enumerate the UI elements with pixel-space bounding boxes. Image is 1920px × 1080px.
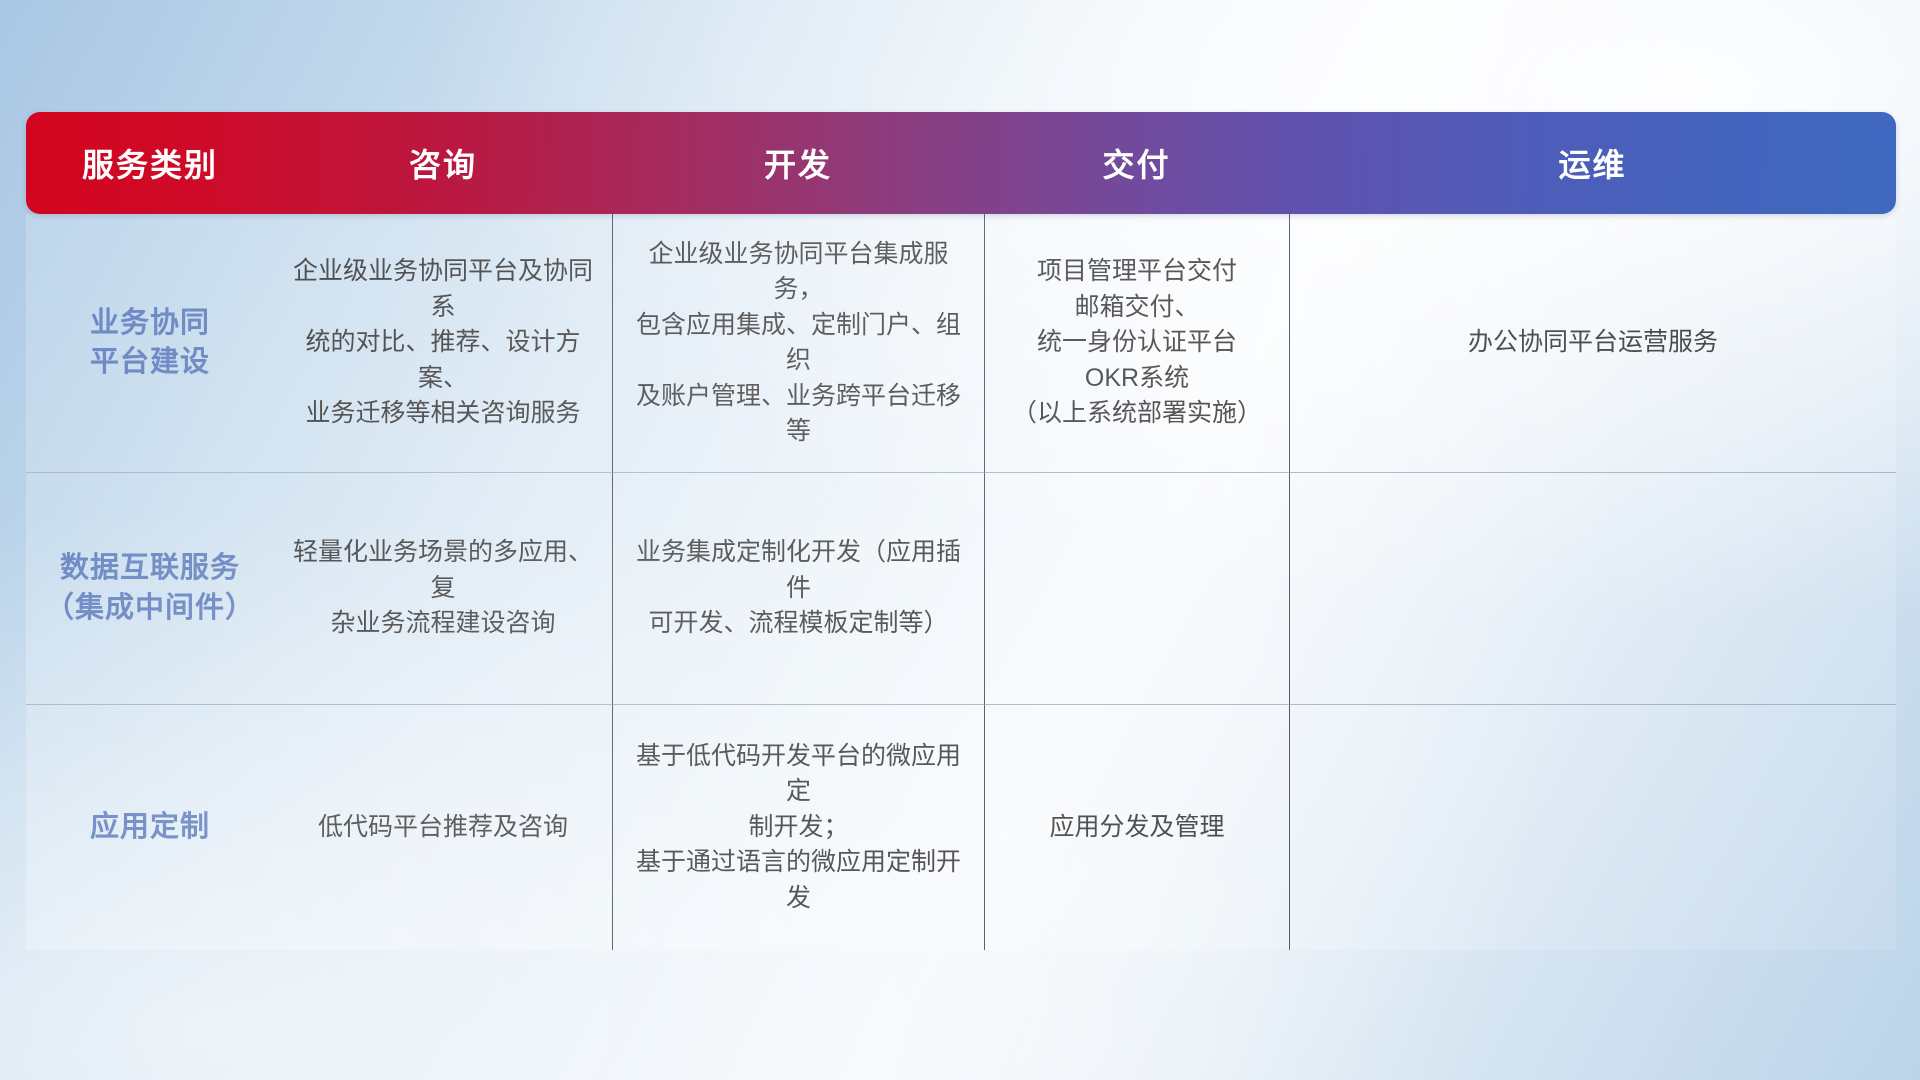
cell-category-row3: 应用定制 bbox=[26, 704, 274, 950]
cell-text: 低代码平台推荐及咨询 bbox=[288, 810, 598, 846]
cell-delivery-row1: 项目管理平台交付 邮箱交付、 统一身份认证平台 OKR系统 （以上系统部署实施） bbox=[984, 214, 1289, 472]
table-row: 应用定制 低代码平台推荐及咨询 基于低代码开发平台的微应用定 制开发； 基于通过… bbox=[26, 704, 1896, 950]
cell-category-row1: 业务协同 平台建设 bbox=[26, 214, 274, 472]
cell-consulting-row1: 企业级业务协同平台及协同系 统的对比、推荐、设计方案、 业务迁移等相关咨询服务 bbox=[274, 214, 612, 472]
table-header: 服务类别 咨询 开发 交付 运维 bbox=[26, 112, 1896, 214]
cell-text: 项目管理平台交付 邮箱交付、 统一身份认证平台 OKR系统 （以上系统部署实施） bbox=[999, 254, 1275, 432]
cell-consulting-row3: 低代码平台推荐及咨询 bbox=[274, 704, 612, 950]
header-cell-operations[interactable]: 运维 bbox=[1289, 112, 1896, 214]
cell-text: 办公协同平台运营服务 bbox=[1304, 325, 1882, 361]
service-category-table: 服务类别 咨询 开发 交付 运维 业务协同 平台建设 企业级业务协同平台及协同系… bbox=[26, 112, 1896, 950]
cell-text: 企业级业务协同平台集成服务， 包含应用集成、定制门户、组织 及账户管理、业务跨平… bbox=[627, 237, 970, 450]
header-row: 服务类别 咨询 开发 交付 运维 bbox=[26, 112, 1896, 214]
table-row: 数据互联服务 （集成中间件） 轻量化业务场景的多应用、复 杂业务流程建设咨询 业… bbox=[26, 472, 1896, 704]
table-row: 业务协同 平台建设 企业级业务协同平台及协同系 统的对比、推荐、设计方案、 业务… bbox=[26, 214, 1896, 472]
cell-development-row1: 企业级业务协同平台集成服务， 包含应用集成、定制门户、组织 及账户管理、业务跨平… bbox=[612, 214, 984, 472]
header-cell-category[interactable]: 服务类别 bbox=[26, 112, 274, 214]
header-cell-consulting[interactable]: 咨询 bbox=[274, 112, 612, 214]
cell-text: 企业级业务协同平台及协同系 统的对比、推荐、设计方案、 业务迁移等相关咨询服务 bbox=[288, 254, 598, 432]
category-label: 应用定制 bbox=[40, 808, 260, 847]
cell-delivery-row2 bbox=[984, 472, 1289, 704]
services-matrix-table: 服务类别 咨询 开发 交付 运维 业务协同 平台建设 企业级业务协同平台及协同系… bbox=[26, 112, 1896, 950]
header-cell-development[interactable]: 开发 bbox=[612, 112, 984, 214]
cell-text: 应用分发及管理 bbox=[999, 810, 1275, 846]
cell-category-row2: 数据互联服务 （集成中间件） bbox=[26, 472, 274, 704]
cell-text: 轻量化业务场景的多应用、复 杂业务流程建设咨询 bbox=[288, 535, 598, 642]
cell-development-row3: 基于低代码开发平台的微应用定 制开发； 基于通过语言的微应用定制开发 bbox=[612, 704, 984, 950]
cell-text: 基于低代码开发平台的微应用定 制开发； 基于通过语言的微应用定制开发 bbox=[627, 739, 970, 917]
cell-consulting-row2: 轻量化业务场景的多应用、复 杂业务流程建设咨询 bbox=[274, 472, 612, 704]
category-label: 业务协同 平台建设 bbox=[40, 304, 260, 383]
page-background: 服务类别 咨询 开发 交付 运维 业务协同 平台建设 企业级业务协同平台及协同系… bbox=[0, 0, 1920, 1080]
cell-delivery-row3: 应用分发及管理 bbox=[984, 704, 1289, 950]
cell-operations-row3 bbox=[1289, 704, 1896, 950]
header-cell-delivery[interactable]: 交付 bbox=[984, 112, 1289, 214]
cell-operations-row2 bbox=[1289, 472, 1896, 704]
table-body: 业务协同 平台建设 企业级业务协同平台及协同系 统的对比、推荐、设计方案、 业务… bbox=[26, 214, 1896, 950]
cell-text: 业务集成定制化开发（应用插件 可开发、流程模板定制等） bbox=[627, 535, 970, 642]
cell-development-row2: 业务集成定制化开发（应用插件 可开发、流程模板定制等） bbox=[612, 472, 984, 704]
category-label: 数据互联服务 （集成中间件） bbox=[40, 549, 260, 628]
cell-operations-row1: 办公协同平台运营服务 bbox=[1289, 214, 1896, 472]
